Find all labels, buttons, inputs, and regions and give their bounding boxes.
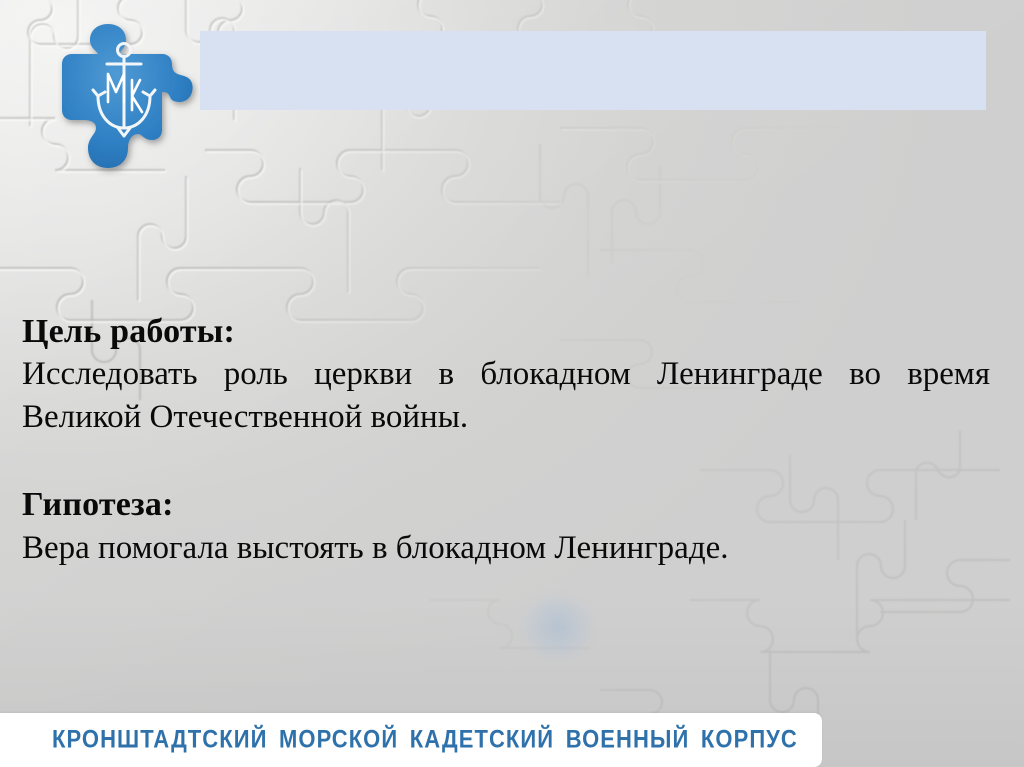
- footer-ribbon: КРОНШТАДТСКИЙ МОРСКОЙ КАДЕТСКИЙ ВОЕННЫЙ …: [0, 713, 822, 767]
- background-smudge: [520, 596, 596, 658]
- section-spacer: [22, 439, 990, 485]
- goal-heading: Цель работы:: [22, 312, 990, 351]
- anchor-icon: [88, 40, 160, 140]
- title-placeholder-box[interactable]: [200, 31, 986, 110]
- presentation-slide: Цель работы: Исследовать роль церкви в б…: [0, 0, 1024, 767]
- title-text[interactable]: [200, 31, 986, 48]
- goal-body: Исследовать роль церкви в блокадном Лени…: [22, 353, 990, 439]
- hypothesis-body: Вера помогала выстоять в блокадном Ленин…: [22, 527, 990, 570]
- slide-body-content: Цель работы: Исследовать роль церкви в б…: [22, 312, 990, 570]
- hypothesis-heading: Гипотеза:: [22, 485, 990, 524]
- institution-name: КРОНШТАДТСКИЙ МОРСКОЙ КАДЕТСКИЙ ВОЕННЫЙ …: [52, 726, 798, 755]
- content-section-hypothesis: Гипотеза: Вера помогала выстоять в блока…: [22, 485, 990, 569]
- content-section-goal: Цель работы: Исследовать роль церкви в б…: [22, 312, 990, 439]
